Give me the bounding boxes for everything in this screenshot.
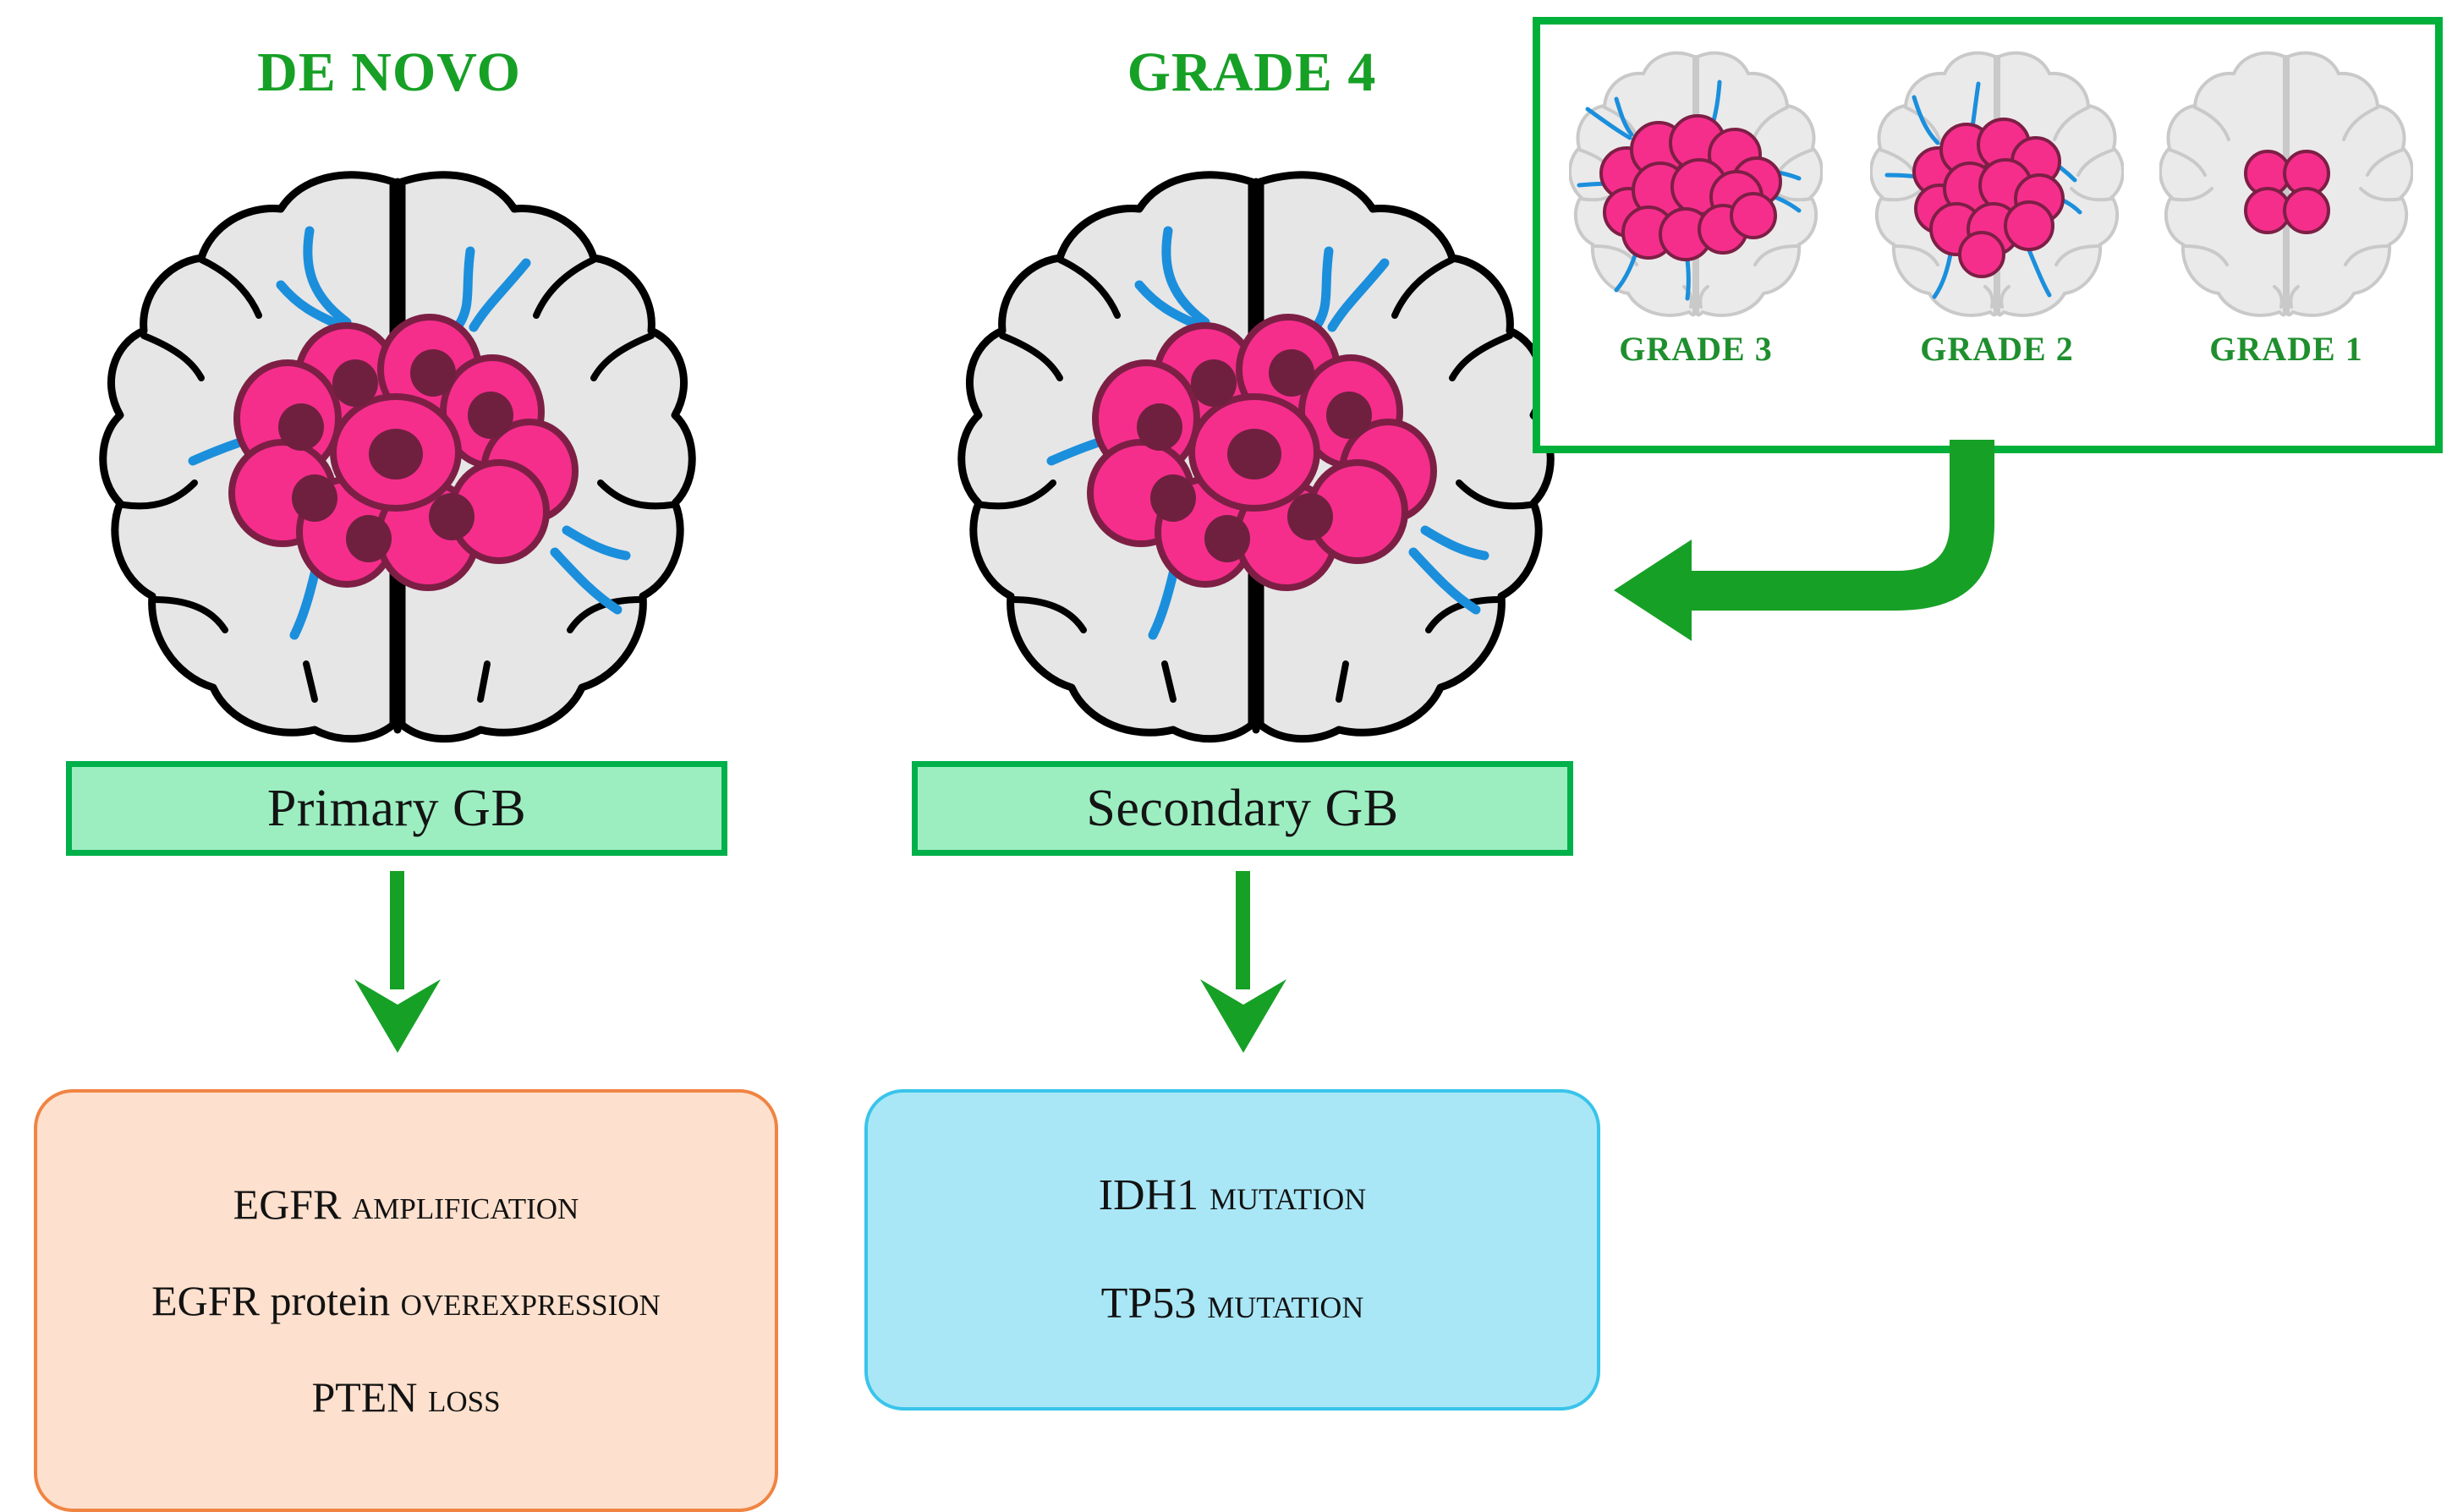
alteration-effect: Mutation: [1207, 1279, 1363, 1328]
alteration-gene: PTEN: [311, 1373, 417, 1421]
brain-illustration-grade-3: [1569, 45, 1823, 324]
arrow-elbow-grade-progression: [1590, 440, 2115, 651]
label-box-secondary-gb: Secondary GB: [912, 761, 1573, 856]
grade-label-2: GRADE 2: [1920, 329, 2073, 369]
panel-secondary-alterations: IDH1 Mutation TP53 Mutation: [864, 1089, 1600, 1411]
brain-illustration-grade-2: [1870, 45, 2124, 324]
grade-label-1: GRADE 1: [2209, 329, 2362, 369]
heading-de-novo: DE NOVO: [101, 41, 677, 105]
alteration-row: EGFR protein Overexpression: [151, 1279, 661, 1322]
alteration-effect: Mutation: [1210, 1171, 1366, 1219]
grade-label-3: GRADE 3: [1619, 329, 1772, 369]
brain-illustration-secondary: [952, 156, 1561, 748]
arrow-down-primary: [326, 871, 469, 1057]
alteration-effect: Overexpression: [401, 1277, 661, 1324]
alteration-gene: EGFR: [233, 1181, 342, 1228]
panel-primary-alterations: EGFR Amplification EGFR protein Overexpr…: [34, 1089, 778, 1512]
label-box-primary-gb: Primary GB: [66, 761, 727, 856]
secondary-gb-text: Secondary GB: [1086, 779, 1398, 839]
alteration-gene: IDH1: [1099, 1171, 1199, 1219]
grade-progression-panel: GRADE 3: [1533, 17, 2443, 453]
diagram-canvas: DE NOVO GRADE 4: [0, 0, 2463, 1509]
alteration-gene: EGFR protein: [151, 1277, 390, 1324]
arrow-down-secondary: [1171, 871, 1315, 1057]
alteration-gene: TP53: [1101, 1279, 1197, 1328]
alteration-effect: Loss: [428, 1373, 501, 1421]
grade-cell-1: GRADE 1: [2151, 45, 2422, 417]
alteration-row: IDH1 Mutation: [1099, 1174, 1367, 1218]
heading-grade-4: GRADE 4: [964, 41, 1539, 105]
alteration-row: TP53 Mutation: [1101, 1282, 1364, 1326]
brain-illustration-grade-1: [2159, 45, 2413, 324]
grade-cell-2: GRADE 2: [1862, 45, 2132, 417]
alteration-row: EGFR Amplification: [233, 1183, 579, 1225]
alteration-row: PTEN Loss: [311, 1376, 500, 1418]
primary-gb-text: Primary GB: [267, 779, 526, 839]
brain-illustration-primary: [93, 156, 702, 748]
alteration-effect: Amplification: [352, 1181, 579, 1228]
grade-cell-3: GRADE 3: [1561, 45, 1831, 417]
